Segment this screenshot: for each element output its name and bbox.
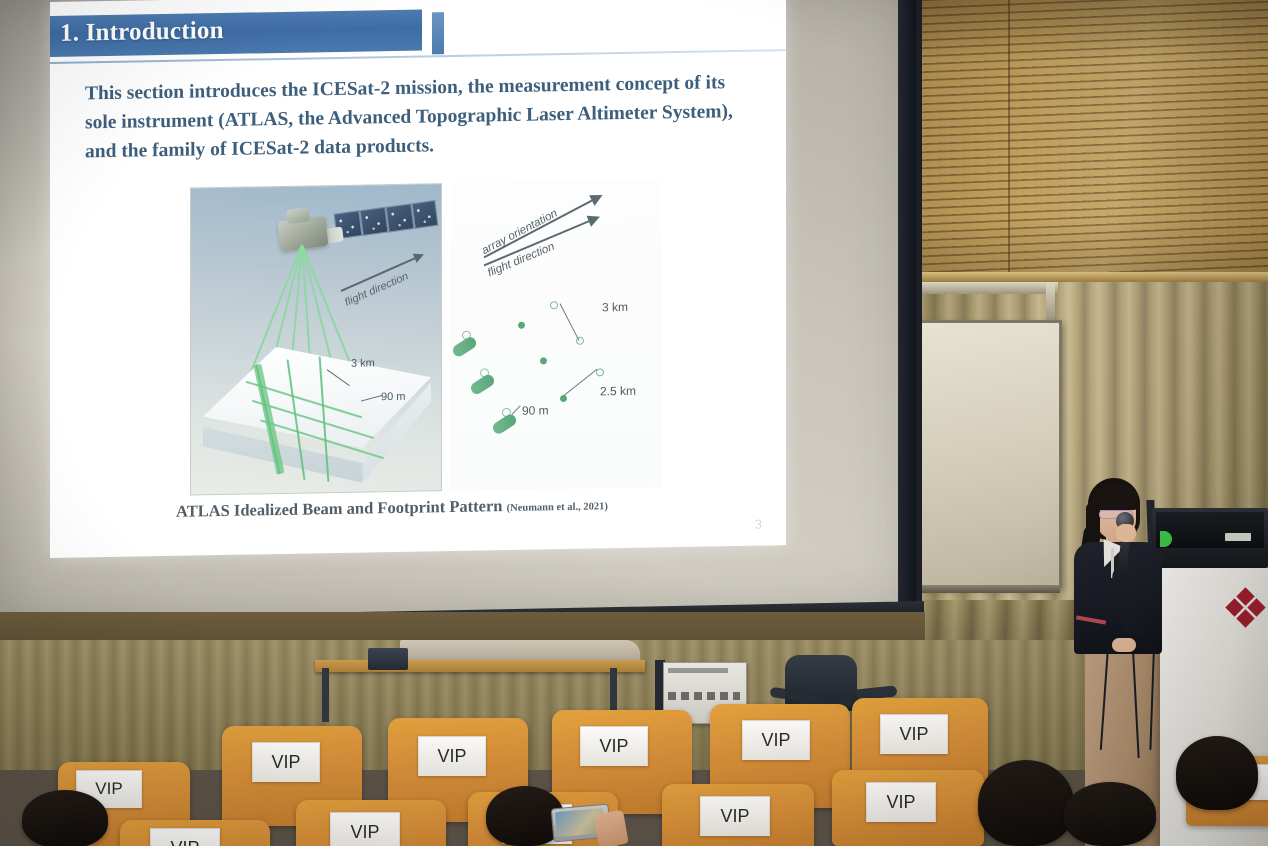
equipment-box-text (668, 692, 740, 700)
dimension-leader-line (564, 369, 598, 396)
whiteboard (912, 320, 1062, 588)
solar-panel-icon (360, 207, 389, 236)
seat-reserved-sign: VIP (580, 726, 648, 766)
seat-reserved-sign: VIP (150, 828, 220, 846)
dimension-label-90m: 90 m (522, 403, 549, 417)
solar-panel-icon (386, 203, 415, 232)
slide-number: 3 (755, 517, 762, 532)
beam-capsule (451, 335, 479, 359)
dimension-leader-line (512, 405, 521, 414)
ice-surface (201, 344, 433, 488)
figure-citation: (Neumann et al., 2021) (507, 501, 608, 514)
figure-left-panel: flight direction 3 km 90 m (190, 183, 442, 495)
strong-beam-footprint (540, 357, 547, 364)
figure-caption-text: ATLAS Idealized Beam and Footprint Patte… (176, 496, 502, 521)
dimension-label-2_5km: 2.5 km (600, 384, 636, 399)
slide-body-text: This section introduces the ICESat-2 mis… (85, 68, 757, 167)
presentation-slide[interactable]: 1. Introduction This section introduces … (50, 0, 786, 558)
presenter-hand (1112, 638, 1136, 652)
seat-reserved-sign: VIP (742, 720, 810, 760)
seat-reserved-sign: VIP (330, 812, 400, 846)
beam-capsule (491, 412, 519, 436)
audience-member-head (978, 760, 1074, 846)
slide-figure: flight direction 3 km 90 m array orienta… (190, 179, 660, 497)
whiteboard-rail-top (908, 282, 1058, 294)
table-leg (322, 668, 329, 722)
seat-reserved-sign: VIP (252, 742, 320, 782)
weak-beam-footprint (550, 301, 558, 309)
equipment-box-text (668, 668, 728, 673)
audience-hand (593, 810, 628, 846)
audience-member-head (22, 790, 108, 846)
projector-device (368, 648, 408, 670)
presenter-hand (1116, 524, 1136, 542)
dimension-label-3km: 3 km (602, 300, 628, 314)
dimension-label-90m: 90 m (381, 391, 405, 403)
seat-reserved-sign: VIP (700, 796, 770, 836)
podium-logo-icon (1228, 590, 1264, 626)
slide-title: 1. Introduction (60, 17, 224, 48)
whiteboard-post-right (1046, 282, 1055, 322)
presenter-table (315, 660, 645, 672)
solar-panel-icon (412, 200, 439, 229)
seat-reserved-sign: VIP (880, 714, 948, 754)
dimension-leader-line (560, 303, 580, 341)
audience-member-head (1064, 782, 1156, 846)
dimension-label-3km: 3 km (351, 357, 375, 369)
wood-slat-wall (905, 0, 1268, 278)
flight-direction-label: flight direction (343, 270, 410, 309)
audience-member-head (1176, 736, 1258, 810)
beam-capsule (469, 373, 497, 397)
whiteboard-rail-bottom (908, 585, 1060, 593)
seat-reserved-sign: VIP (418, 736, 486, 776)
presenter (1068, 478, 1174, 708)
wall-seam (1008, 0, 1010, 275)
figure-caption: ATLAS Idealized Beam and Footprint Patte… (176, 494, 608, 522)
lecture-hall-scene: 1. Introduction This section introduces … (0, 0, 1268, 846)
strong-beam-footprint (518, 322, 525, 329)
figure-right-panel: array orientation flight direction (450, 179, 662, 491)
monitor-label (1225, 533, 1251, 541)
seat-reserved-sign: VIP (866, 782, 936, 822)
projection-screen-right-edge (898, 0, 916, 636)
slide-title-accent-tab (432, 12, 444, 54)
